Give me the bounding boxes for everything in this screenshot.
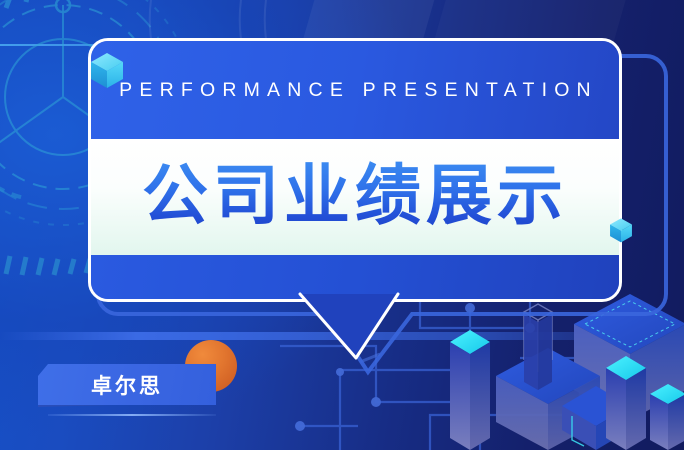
brand-name: 卓尔思 <box>91 370 163 400</box>
cube-icon <box>88 50 126 90</box>
card-body: 公司业绩展示 <box>91 139 619 255</box>
card-footer <box>91 255 619 299</box>
page-title: 公司业绩展示 <box>142 156 568 238</box>
isometric-buildings <box>444 280 684 450</box>
eyebrow-text: PERFORMANCE PRESENTATION <box>112 79 598 102</box>
brand-ribbon: 卓尔思 <box>38 364 216 405</box>
poster-canvas: PERFORMANCE PRESENTATION 公司业绩展示 <box>0 0 684 450</box>
speech-bubble-card: PERFORMANCE PRESENTATION 公司业绩展示 <box>88 38 622 302</box>
cube-icon <box>608 216 634 244</box>
card-header: PERFORMANCE PRESENTATION <box>91 41 619 139</box>
ribbon-underline <box>48 414 216 416</box>
